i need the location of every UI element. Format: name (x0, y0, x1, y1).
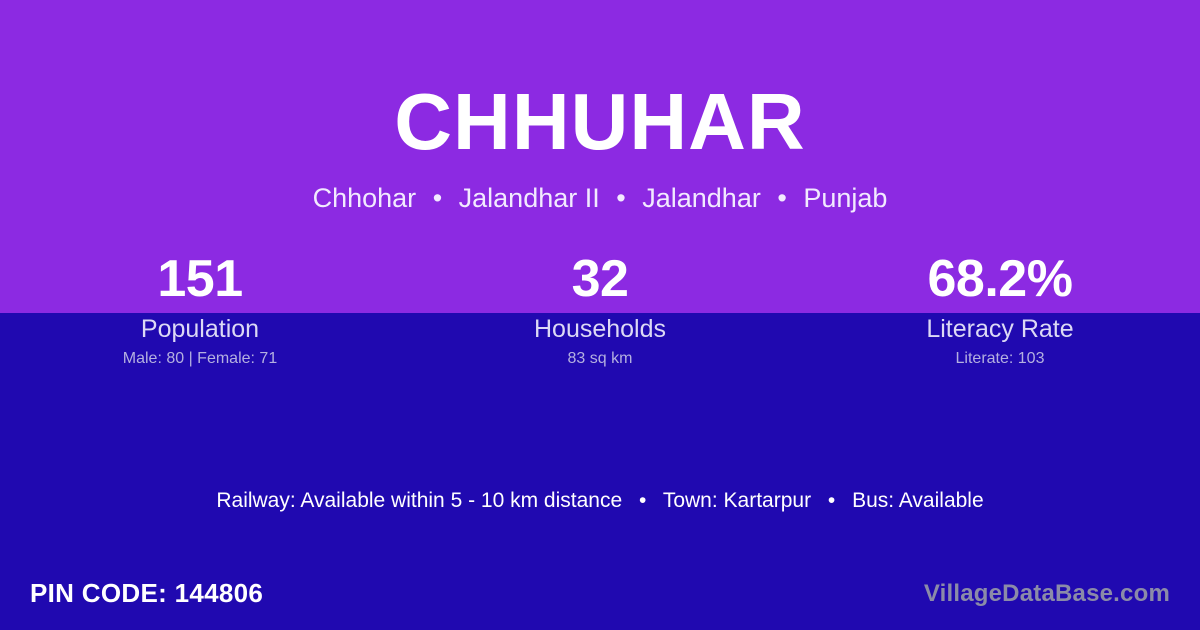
stat-literacy-rate: 68.2% Literacy Rate Literate: 103 (800, 246, 1200, 372)
stat-households-value: 32 (400, 246, 800, 312)
stat-households-area: 83 sq km (400, 346, 800, 372)
amenities-separator: • (628, 487, 657, 515)
amenity-railway: Railway: Available within 5 - 10 km dist… (216, 489, 622, 512)
breadcrumb-item-village: Chhohar (313, 183, 417, 213)
stat-households: 32 Households 83 sq km (400, 246, 800, 372)
pin-code: PIN CODE: 144806 (30, 576, 263, 610)
amenities-line: Railway: Available within 5 - 10 km dist… (0, 487, 1200, 515)
breadcrumb-item-district: Jalandhar (642, 183, 761, 213)
stat-population-label: Population (0, 312, 400, 346)
village-info-card: CHHUHAR Chhohar • Jalandhar II • Jalandh… (0, 0, 1200, 630)
amenity-town: Town: Kartarpur (663, 489, 811, 512)
stat-population-breakdown: Male: 80 | Female: 71 (0, 346, 400, 372)
page-title: CHHUHAR (0, 82, 1200, 162)
stats-row: 151 Population Male: 80 | Female: 71 32 … (0, 246, 1200, 372)
stat-literacy-count: Literate: 103 (800, 346, 1200, 372)
footer: PIN CODE: 144806 VillageDataBase.com (0, 560, 1200, 630)
amenities-separator: • (817, 487, 846, 515)
stat-literacy-rate-label: Literacy Rate (800, 312, 1200, 346)
amenity-bus: Bus: Available (852, 489, 984, 512)
stat-population: 151 Population Male: 80 | Female: 71 (0, 246, 400, 372)
breadcrumb-item-block: Jalandhar II (459, 183, 600, 213)
stat-population-value: 151 (0, 246, 400, 312)
breadcrumb-separator: • (607, 182, 634, 216)
stat-households-label: Households (400, 312, 800, 346)
breadcrumb-separator: • (424, 182, 451, 216)
breadcrumb: Chhohar • Jalandhar II • Jalandhar • Pun… (0, 182, 1200, 216)
brand-watermark: VillageDataBase.com (924, 578, 1170, 610)
stat-literacy-rate-value: 68.2% (800, 246, 1200, 312)
breadcrumb-separator: • (768, 182, 795, 216)
breadcrumb-item-state: Punjab (803, 183, 887, 213)
